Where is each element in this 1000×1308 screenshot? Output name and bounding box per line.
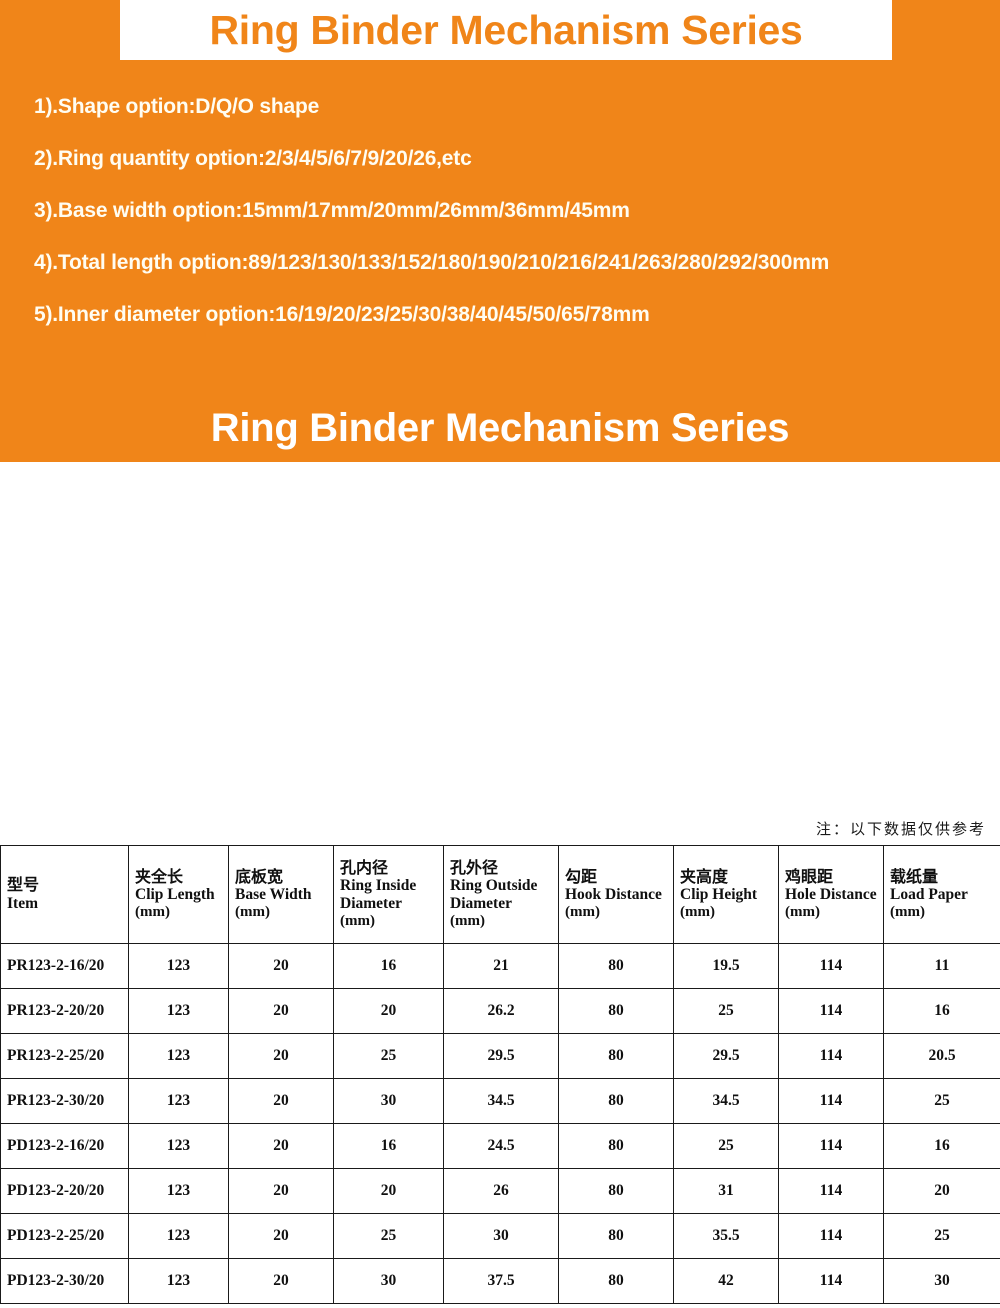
cell-ring-inside-diameter: 20	[334, 1169, 444, 1214]
cell-hook-distance: 80	[559, 1124, 674, 1169]
cell-base-width: 20	[229, 1034, 334, 1079]
cell-ring-outside-diameter: 29.5	[444, 1034, 559, 1079]
table-header-row: 型号 Item 夹全长 Clip Length (mm) 底板宽 Base Wi…	[1, 846, 1000, 944]
cell-clip-length: 123	[129, 944, 229, 989]
cell-clip-height: 25	[674, 1124, 779, 1169]
banner-subtitle-text: Ring Binder Mechanism Series	[211, 406, 789, 450]
cell-hole-distance: 114	[779, 1124, 884, 1169]
column-header-clip-length-cn: 夹全长	[135, 868, 223, 886]
column-header-load-paper-unit: (mm)	[890, 904, 995, 921]
column-header-load-paper-en: Load Paper	[890, 886, 995, 904]
cell-ring-inside-diameter: 25	[334, 1214, 444, 1259]
title-box: Ring Binder Mechanism Series	[120, 0, 892, 60]
cell-clip-length: 123	[129, 1034, 229, 1079]
cell-item: PR123-2-20/20	[1, 989, 129, 1034]
cell-item: PD123-2-25/20	[1, 1214, 129, 1259]
column-header-ring-outside-diameter-cn: 孔外径	[450, 859, 553, 877]
cell-hole-distance: 114	[779, 1259, 884, 1304]
cell-clip-length: 123	[129, 1259, 229, 1304]
table-row: PD123-2-16/20 123 20 16 24.5 80 25 114 1…	[1, 1124, 1000, 1169]
column-header-hole-distance-unit: (mm)	[785, 904, 878, 921]
cell-clip-length: 123	[129, 1214, 229, 1259]
spec-option-list: 1).Shape option:D/Q/O shape 2).Ring quan…	[34, 96, 984, 356]
cell-base-width: 20	[229, 989, 334, 1034]
product-spec-page: Ring Binder Mechanism Series 1).Shape op…	[0, 0, 1000, 1308]
cell-ring-outside-diameter: 37.5	[444, 1259, 559, 1304]
cell-clip-height: 19.5	[674, 944, 779, 989]
column-header-clip-length-unit: (mm)	[135, 904, 223, 921]
cell-load-paper: 25	[884, 1214, 1000, 1259]
spec-option-base-width: 3).Base width option:15mm/17mm/20mm/26mm…	[34, 200, 984, 221]
cell-ring-outside-diameter: 30	[444, 1214, 559, 1259]
column-header-item: 型号 Item	[1, 846, 129, 944]
cell-base-width: 20	[229, 1259, 334, 1304]
cell-item: PR123-2-30/20	[1, 1079, 129, 1124]
column-header-load-paper: 载纸量 Load Paper (mm)	[884, 846, 1000, 944]
column-header-hole-distance-en: Hole Distance	[785, 886, 878, 904]
cell-hole-distance: 114	[779, 1034, 884, 1079]
table-row: PR123-2-30/20 123 20 30 34.5 80 34.5 114…	[1, 1079, 1000, 1124]
table-row: PR123-2-25/20 123 20 25 29.5 80 29.5 114…	[1, 1034, 1000, 1079]
column-header-load-paper-cn: 载纸量	[890, 868, 995, 886]
specification-table: 型号 Item 夹全长 Clip Length (mm) 底板宽 Base Wi…	[0, 845, 1000, 1304]
column-header-base-width: 底板宽 Base Width (mm)	[229, 846, 334, 944]
column-header-ring-inside-diameter-unit: (mm)	[340, 913, 438, 930]
cell-hole-distance: 114	[779, 1079, 884, 1124]
spec-option-ring-quantity: 2).Ring quantity option:2/3/4/5/6/7/9/20…	[34, 148, 984, 169]
column-header-clip-height-en: Clip Height	[680, 886, 773, 904]
cell-ring-inside-diameter: 25	[334, 1034, 444, 1079]
cell-ring-outside-diameter: 34.5	[444, 1079, 559, 1124]
cell-item: PR123-2-16/20	[1, 944, 129, 989]
column-header-hook-distance-unit: (mm)	[565, 904, 668, 921]
cell-item: PD123-2-30/20	[1, 1259, 129, 1304]
cell-clip-length: 123	[129, 989, 229, 1034]
column-header-clip-length-en: Clip Length	[135, 886, 223, 904]
cell-base-width: 20	[229, 1079, 334, 1124]
cell-hook-distance: 80	[559, 944, 674, 989]
column-header-hole-distance-cn: 鸡眼距	[785, 868, 878, 886]
cell-load-paper: 16	[884, 989, 1000, 1034]
column-header-item-cn: 型号	[7, 876, 123, 894]
column-header-base-width-en: Base Width	[235, 886, 328, 904]
table-row: PD123-2-25/20 123 20 25 30 80 35.5 114 2…	[1, 1214, 1000, 1259]
cell-clip-length: 123	[129, 1124, 229, 1169]
cell-hook-distance: 80	[559, 1079, 674, 1124]
column-header-ring-outside-diameter-en: Ring Outside Diameter	[450, 877, 553, 913]
cell-load-paper: 16	[884, 1124, 1000, 1169]
cell-ring-inside-diameter: 20	[334, 989, 444, 1034]
cell-ring-inside-diameter: 16	[334, 944, 444, 989]
column-header-clip-length: 夹全长 Clip Length (mm)	[129, 846, 229, 944]
cell-load-paper: 20	[884, 1169, 1000, 1214]
spec-option-total-length: 4).Total length option:89/123/130/133/15…	[34, 252, 984, 273]
cell-hole-distance: 114	[779, 1169, 884, 1214]
column-header-hook-distance-cn: 勾距	[565, 868, 668, 886]
cell-item: PR123-2-25/20	[1, 1034, 129, 1079]
cell-clip-length: 123	[129, 1079, 229, 1124]
cell-hook-distance: 80	[559, 1214, 674, 1259]
page-title: Ring Binder Mechanism Series	[209, 10, 802, 51]
cell-base-width: 20	[229, 944, 334, 989]
column-header-ring-inside-diameter: 孔内径 Ring Inside Diameter (mm)	[334, 846, 444, 944]
cell-clip-height: 31	[674, 1169, 779, 1214]
table-row: PD123-2-20/20 123 20 20 26 80 31 114 20	[1, 1169, 1000, 1214]
cell-hook-distance: 80	[559, 989, 674, 1034]
cell-load-paper: 11	[884, 944, 1000, 989]
cell-base-width: 20	[229, 1169, 334, 1214]
cell-ring-outside-diameter: 24.5	[444, 1124, 559, 1169]
cell-base-width: 20	[229, 1214, 334, 1259]
cell-clip-height: 29.5	[674, 1034, 779, 1079]
column-header-ring-outside-diameter-unit: (mm)	[450, 913, 553, 930]
spec-option-inner-diameter: 5).Inner diameter option:16/19/20/23/25/…	[34, 304, 984, 325]
cell-clip-height: 42	[674, 1259, 779, 1304]
table-row: PR123-2-16/20 123 20 16 21 80 19.5 114 1…	[1, 944, 1000, 989]
column-header-base-width-cn: 底板宽	[235, 868, 328, 886]
column-header-hook-distance: 勾距 Hook Distance (mm)	[559, 846, 674, 944]
table-row: PD123-2-30/20 123 20 30 37.5 80 42 114 3…	[1, 1259, 1000, 1304]
column-header-item-en: Item	[7, 895, 123, 913]
cell-item: PD123-2-16/20	[1, 1124, 129, 1169]
cell-ring-inside-diameter: 30	[334, 1259, 444, 1304]
column-header-clip-height-unit: (mm)	[680, 904, 773, 921]
spec-table-wrapper: 型号 Item 夹全长 Clip Length (mm) 底板宽 Base Wi…	[0, 845, 1000, 1304]
table-row: PR123-2-20/20 123 20 20 26.2 80 25 114 1…	[1, 989, 1000, 1034]
cell-clip-height: 34.5	[674, 1079, 779, 1124]
cell-item: PD123-2-20/20	[1, 1169, 129, 1214]
cell-clip-length: 123	[129, 1169, 229, 1214]
cell-hole-distance: 114	[779, 944, 884, 989]
column-header-base-width-unit: (mm)	[235, 904, 328, 921]
column-header-hook-distance-en: Hook Distance	[565, 886, 668, 904]
banner-subtitle: Ring Binder Mechanism Series	[0, 408, 1000, 448]
cell-ring-outside-diameter: 21	[444, 944, 559, 989]
cell-hook-distance: 80	[559, 1034, 674, 1079]
spec-option-shape: 1).Shape option:D/Q/O shape	[34, 96, 984, 117]
cell-ring-inside-diameter: 16	[334, 1124, 444, 1169]
cell-hook-distance: 80	[559, 1169, 674, 1214]
cell-load-paper: 30	[884, 1259, 1000, 1304]
cell-ring-inside-diameter: 30	[334, 1079, 444, 1124]
cell-clip-height: 25	[674, 989, 779, 1034]
cell-clip-height: 35.5	[674, 1214, 779, 1259]
table-note: 注：以下数据仅供参考	[816, 818, 986, 839]
cell-ring-outside-diameter: 26	[444, 1169, 559, 1214]
cell-base-width: 20	[229, 1124, 334, 1169]
column-header-clip-height: 夹高度 Clip Height (mm)	[674, 846, 779, 944]
cell-load-paper: 20.5	[884, 1034, 1000, 1079]
promo-banner: Ring Binder Mechanism Series 1).Shape op…	[0, 0, 1000, 462]
cell-hole-distance: 114	[779, 1214, 884, 1259]
column-header-hole-distance: 鸡眼距 Hole Distance (mm)	[779, 846, 884, 944]
column-header-ring-inside-diameter-cn: 孔内径	[340, 859, 438, 877]
cell-ring-outside-diameter: 26.2	[444, 989, 559, 1034]
cell-hook-distance: 80	[559, 1259, 674, 1304]
column-header-clip-height-cn: 夹高度	[680, 868, 773, 886]
cell-load-paper: 25	[884, 1079, 1000, 1124]
column-header-ring-inside-diameter-en: Ring Inside Diameter	[340, 877, 438, 913]
cell-hole-distance: 114	[779, 989, 884, 1034]
column-header-ring-outside-diameter: 孔外径 Ring Outside Diameter (mm)	[444, 846, 559, 944]
product-diagram-area: Base Width Ring Inside Diameter Clip Len…	[0, 462, 1000, 817]
